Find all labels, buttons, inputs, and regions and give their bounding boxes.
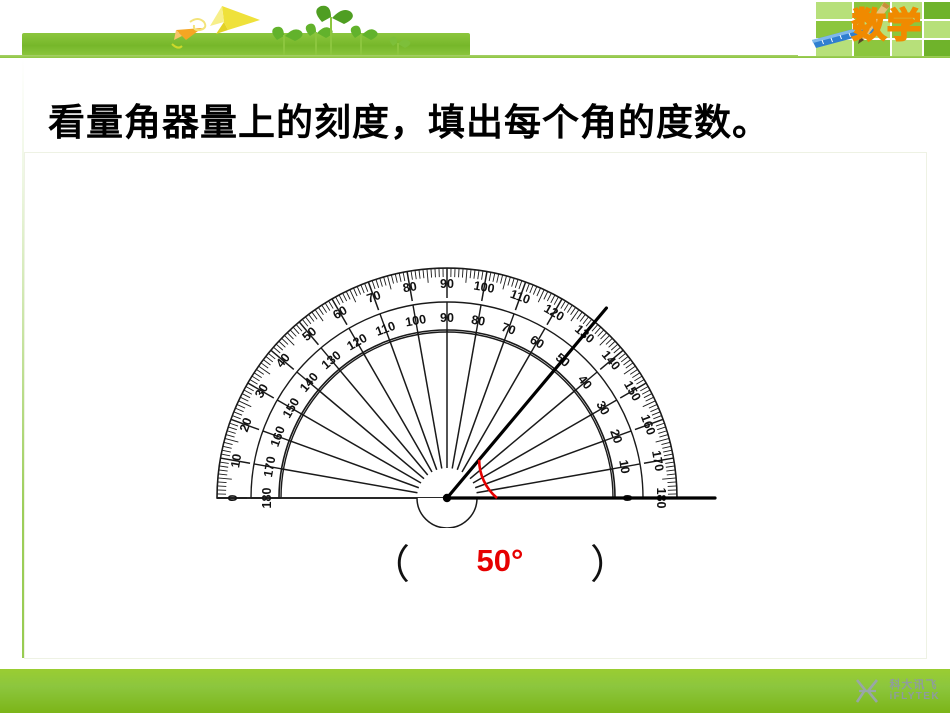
header-decorations [150, 0, 450, 58]
subject-logo: 数学 [798, 0, 950, 58]
svg-text:90: 90 [440, 277, 454, 291]
svg-text:10: 10 [228, 453, 244, 469]
svg-text:180: 180 [260, 488, 274, 509]
header-banner: 数学 [0, 0, 950, 60]
paper-airplane-icon [172, 6, 260, 48]
sprout-icon [390, 37, 411, 57]
protractor-figure: 0102030405060708090100110120130140150160… [190, 228, 720, 528]
sprout-icon [351, 26, 378, 57]
answer-value[interactable]: 50° [410, 543, 590, 579]
answer-close-paren: ） [590, 532, 630, 590]
watermark-iflytek: 科大讯飞 iFLYTEK [853, 677, 940, 705]
svg-text:10: 10 [616, 459, 632, 475]
logo-label: 数学 [852, 4, 922, 48]
sprout-icon [272, 27, 302, 57]
svg-text:80: 80 [402, 279, 418, 295]
footer-band [0, 669, 950, 713]
svg-text:80: 80 [470, 313, 486, 329]
watermark-en: iFLYTEK [889, 692, 940, 703]
sprout-icon [306, 24, 333, 57]
answer-open-paren: （ [370, 532, 410, 590]
svg-text:90: 90 [440, 311, 454, 325]
iflytek-mark-icon [853, 677, 883, 705]
page-title: 看量角器量上的刻度，填出每个角的度数。 [48, 92, 908, 146]
answer-row: （ 50° ） [370, 532, 630, 590]
svg-text:0: 0 [226, 494, 240, 501]
watermark-cn: 科大讯飞 [889, 680, 940, 692]
